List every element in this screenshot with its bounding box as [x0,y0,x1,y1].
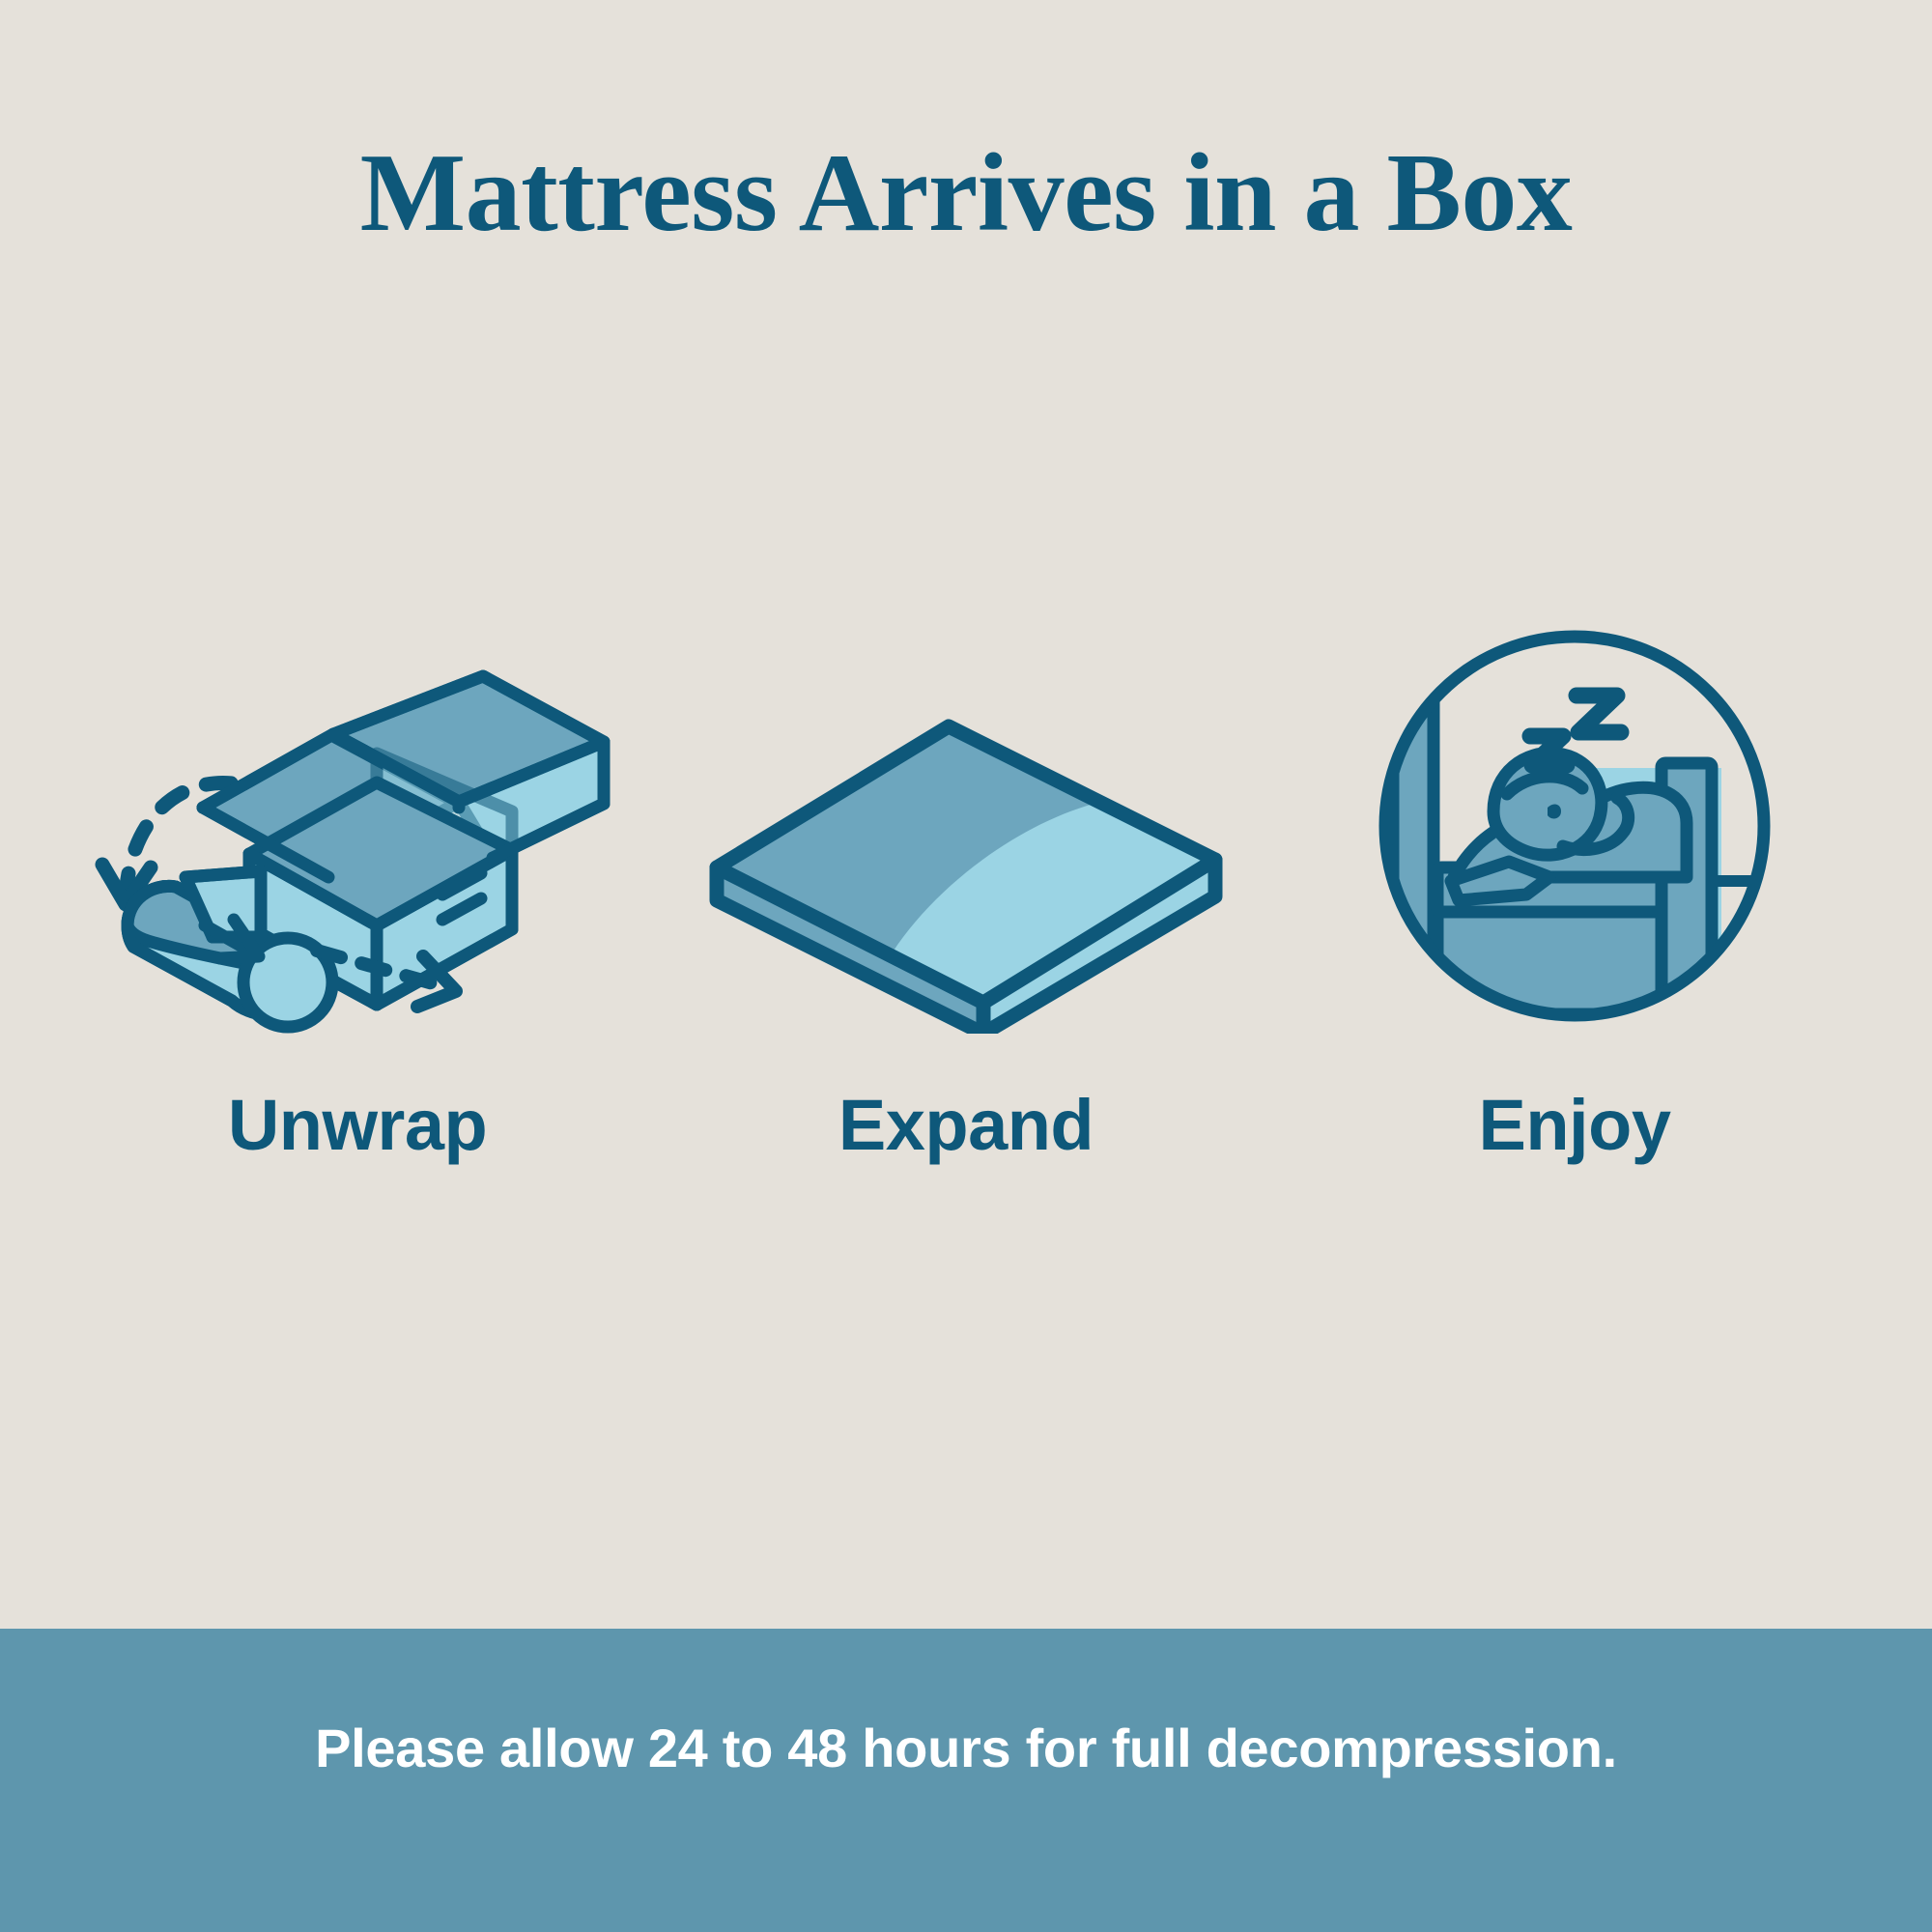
flat-mattress-icon [696,618,1236,1034]
step-label-enjoy: Enjoy [1479,1090,1671,1161]
box-with-rolled-mattress-icon [87,618,628,1034]
banner-text: Please allow 24 to 48 hours for full dec… [315,1721,1617,1776]
infographic-poster: Mattress Arrives in a Box [0,0,1932,1932]
step-label-unwrap: Unwrap [228,1090,487,1161]
decompression-banner: Please allow 24 to 48 hours for full dec… [0,1629,1932,1932]
steps-row: Unwrap Expand [0,618,1932,1333]
page-title: Mattress Arrives in a Box [0,135,1932,253]
step-expand: Expand [667,618,1265,1161]
step-unwrap: Unwrap [58,618,657,1161]
step-enjoy: Enjoy [1275,618,1874,1161]
person-sleeping-in-bed-icon [1304,618,1845,1034]
step-label-expand: Expand [838,1090,1094,1161]
